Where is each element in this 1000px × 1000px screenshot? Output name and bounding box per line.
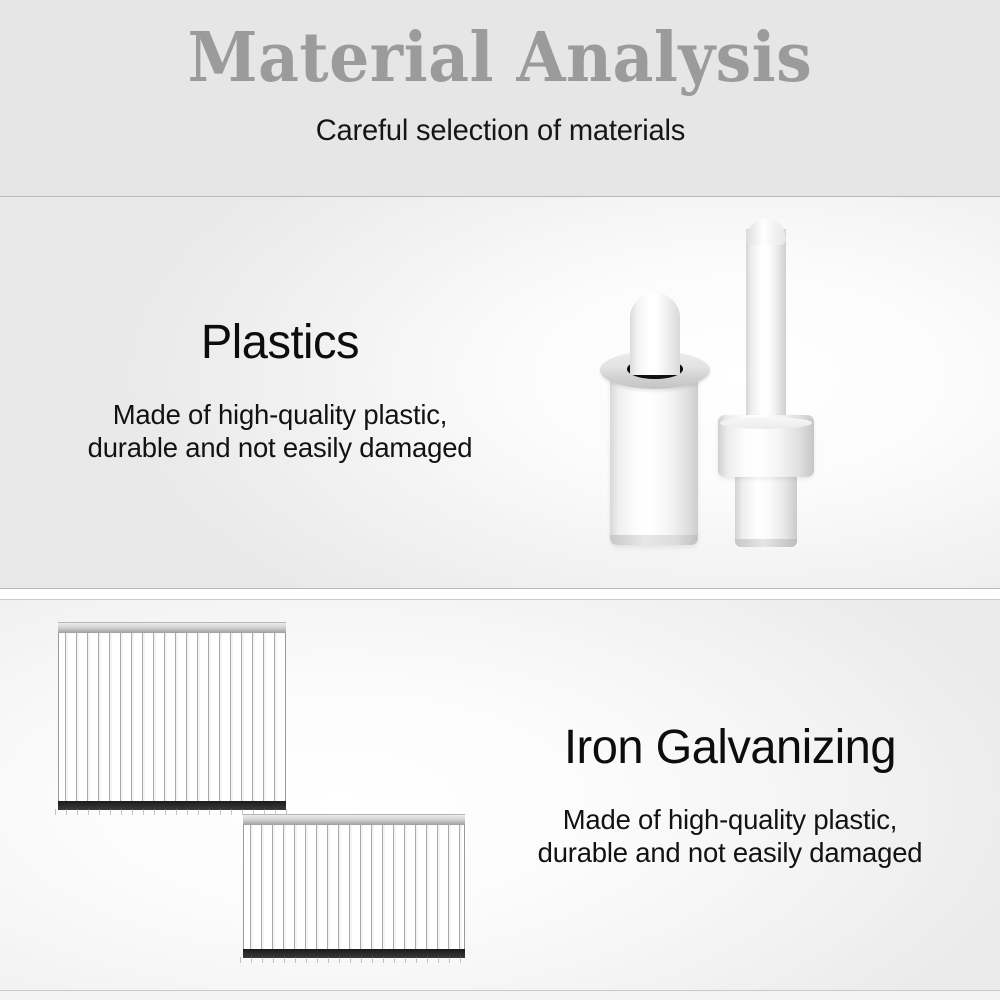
plastics-description-line1: Made of high-quality plastic, [25,398,535,431]
iron-description-line2: durable and not easily damaged [465,836,994,869]
footer-strip [0,991,1000,1000]
iron-title: Iron Galvanizing [465,720,994,775]
pin-base [735,469,797,547]
pin-tip [746,219,786,245]
staple-legs-upper [58,632,286,804]
page-header: Material Analysis Careful selection of m… [0,0,1000,196]
plastic-socket-with-plunger [600,275,710,545]
plastics-section-divider-top [0,588,1000,589]
socket-body [610,371,698,545]
plastics-title: Plastics [25,315,535,370]
section-plastics: Plastics Made of high-quality plastic, d… [0,197,1000,588]
iron-description: Made of high-quality plastic, durable an… [465,803,994,869]
plastics-description-line2: durable and not easily damaged [25,431,535,464]
staple-base-lower [240,957,470,963]
plastic-pin-with-collar [718,219,814,547]
staple-legs-lower [243,824,465,952]
socket-plunger-top [630,293,680,375]
section-iron-galvanizing: Iron Galvanizing Made of high-quality pl… [0,600,1000,990]
plastics-description: Made of high-quality plastic, durable an… [25,398,535,464]
page-title: Material Analysis [188,24,813,92]
iron-description-line1: Made of high-quality plastic, [465,803,994,836]
staple-crown-lower [243,814,465,825]
staple-crown-upper [58,622,286,633]
galvanized-staple-strip-upper [58,622,286,814]
pin-collar [718,415,814,477]
page-subtitle: Careful selection of materials [315,114,684,148]
iron-text-block: Iron Galvanizing Made of high-quality pl… [460,720,1000,869]
material-analysis-page: Material Analysis Careful selection of m… [0,0,1000,1000]
galvanized-staple-strip-lower [243,814,465,960]
plastics-text-block: Plastics Made of high-quality plastic, d… [20,315,540,464]
